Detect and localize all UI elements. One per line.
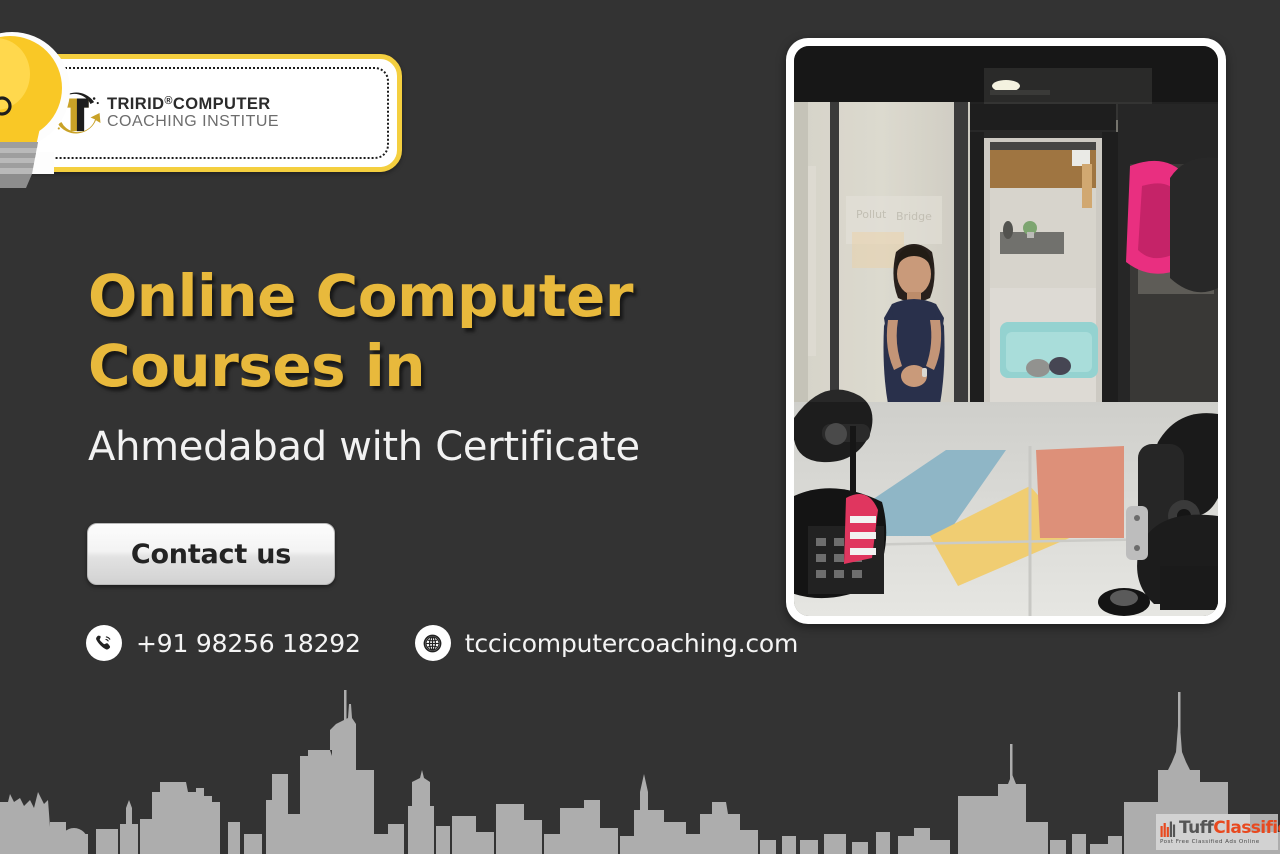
page-title-line-1: Online Computer xyxy=(88,262,633,330)
registered-mark-icon: ® xyxy=(164,95,173,107)
website-contact-item[interactable]: tccicomputercoaching.com xyxy=(415,625,798,661)
brand-badge[interactable]: TRIRID®COMPUTER COACHING INSTITUE xyxy=(0,36,404,188)
tuffclassified-watermark: TuffClassified Post Free Classified Ads … xyxy=(1156,814,1278,850)
website-url-text: tccicomputercoaching.com xyxy=(465,629,798,658)
phone-icon xyxy=(86,625,122,661)
bar-chart-icon xyxy=(1160,821,1176,837)
watermark-name-part2: Classified xyxy=(1213,818,1280,838)
page-subtitle: Ahmedabad with Certificate xyxy=(88,423,748,471)
promo-banner: TRIRID®COMPUTER COACHING INSTITUE xyxy=(0,0,1280,854)
phone-number-text: +91 98256 18292 xyxy=(136,629,361,658)
headline-block: Online Computer Courses in Ahmedabad wit… xyxy=(88,262,748,471)
contact-info-row: +91 98256 18292 tccicomputercoaching.com xyxy=(86,625,798,661)
city-skyline-decoration xyxy=(0,674,1280,854)
watermark-tagline: Post Free Classified Ads Online xyxy=(1160,839,1260,845)
hero-photo: Pollut Bridge xyxy=(794,46,1218,616)
brand-name-main: TRIRID xyxy=(107,95,164,113)
watermark-name-part1: Tuff xyxy=(1179,818,1213,838)
hero-photo-frame: Pollut Bridge xyxy=(786,38,1226,624)
brand-tagline-line: COACHING INSTITUE xyxy=(107,113,279,131)
globe-icon xyxy=(415,625,451,661)
page-title: Online Computer Courses in xyxy=(88,262,748,401)
brand-name-rest: COMPUTER xyxy=(173,95,271,113)
page-title-line-2: Courses in xyxy=(88,332,425,400)
contact-us-button[interactable]: Contact us xyxy=(87,523,335,585)
lightbulb-icon xyxy=(0,24,86,204)
phone-contact-item[interactable]: +91 98256 18292 xyxy=(86,625,361,661)
brand-name-line: TRIRID®COMPUTER xyxy=(107,95,279,113)
